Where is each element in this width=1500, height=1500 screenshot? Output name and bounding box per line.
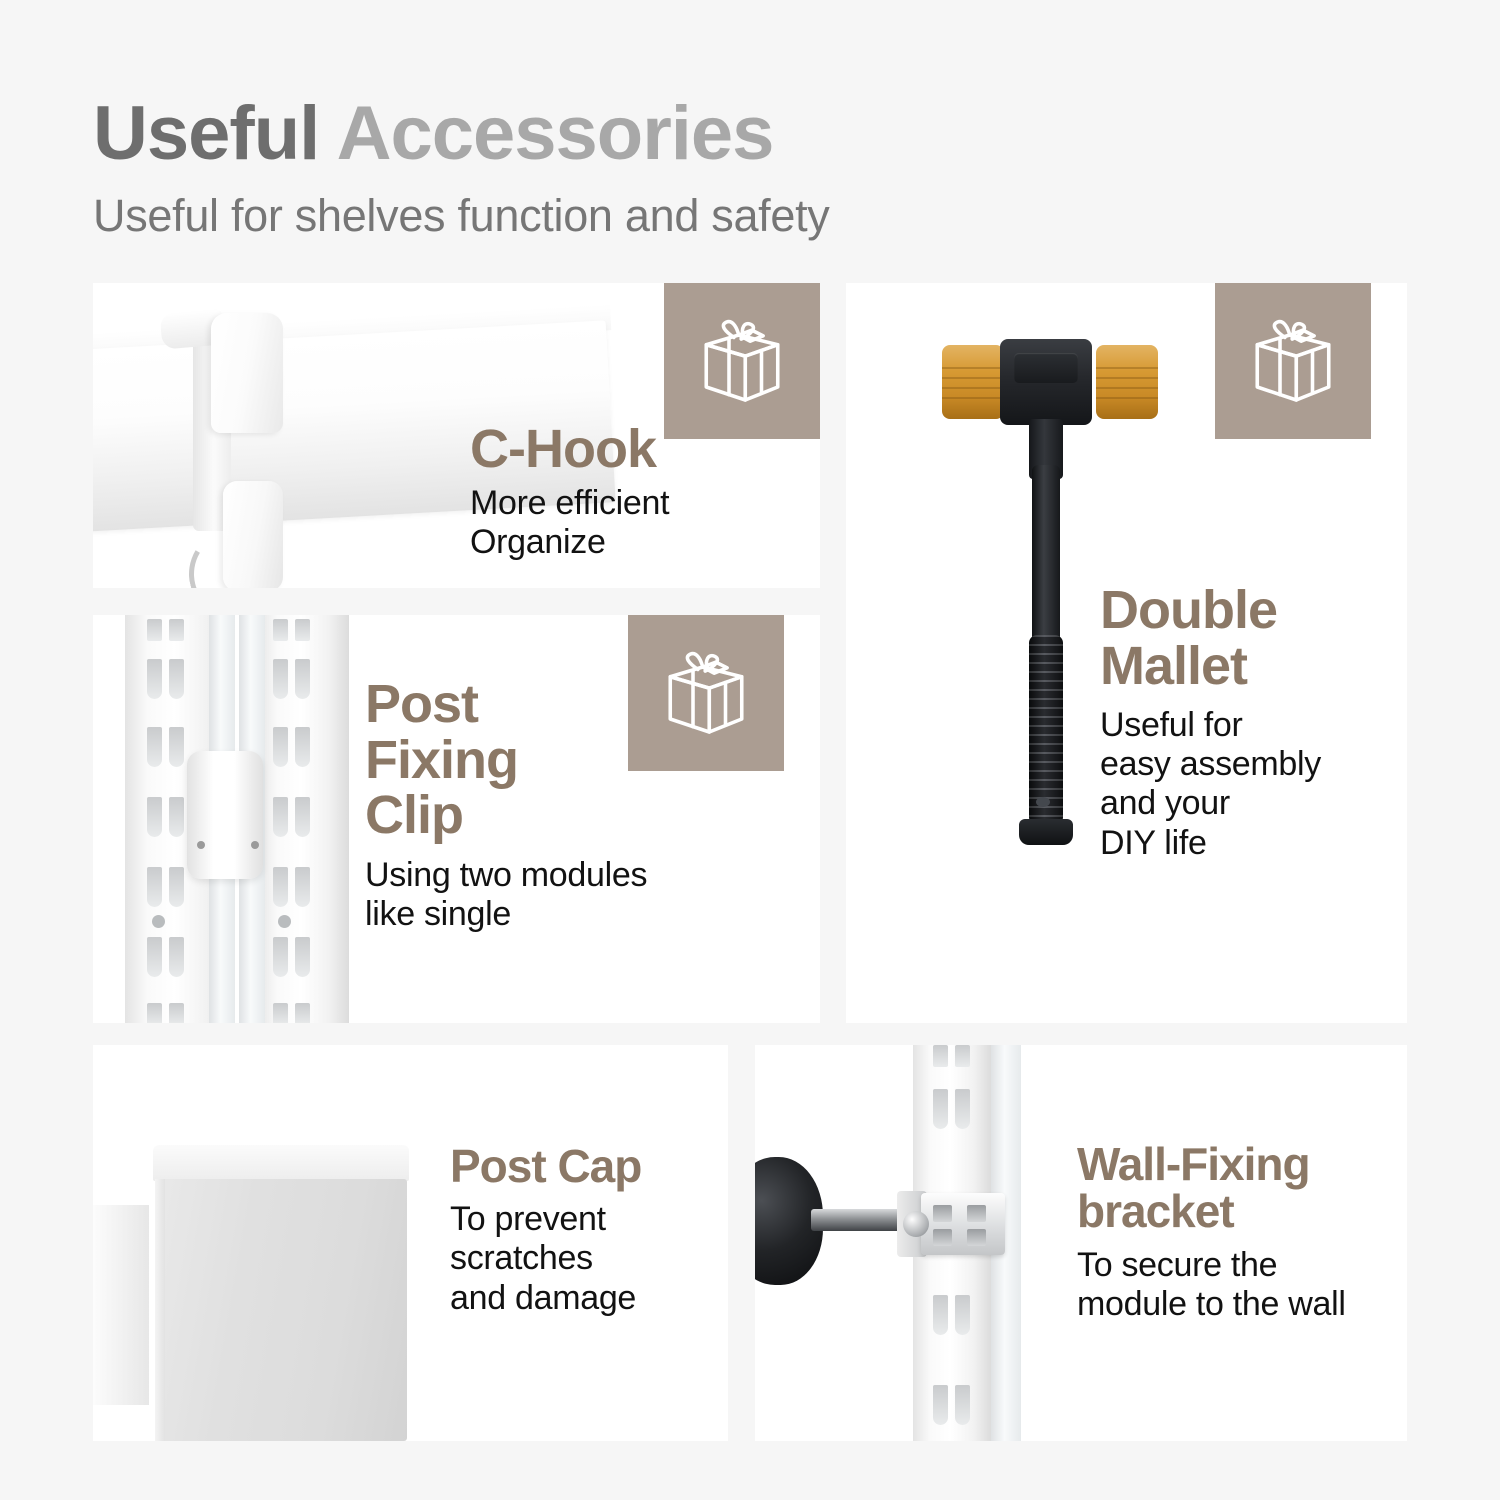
title-line: Post: [365, 677, 765, 733]
wall-fixing-bracket-title: Wall-Fixing bracket: [1077, 1141, 1407, 1236]
card-double-mallet: Double Mallet Useful for easy assembly a…: [846, 283, 1407, 1023]
post-slot: [933, 1295, 948, 1335]
description-line: To prevent: [450, 1200, 720, 1239]
c-hook-upper-arm: [211, 313, 283, 433]
post-slot: [169, 619, 184, 641]
infographic-page: Useful Accessories Useful for shelves fu…: [0, 0, 1500, 1500]
mallet-face-rib: [1096, 387, 1158, 389]
post-slot: [933, 1089, 948, 1129]
description-line: module to the wall: [1077, 1285, 1407, 1324]
post-hole: [278, 915, 291, 928]
post-cap-title: Post Cap: [450, 1143, 720, 1190]
post-slot: [273, 727, 288, 767]
title-line: Fixing: [365, 733, 765, 789]
post-slot: [273, 867, 288, 907]
clip-screw-dot: [197, 841, 205, 849]
post-slot: [295, 619, 310, 641]
post-fixing-clip-photo: [125, 615, 349, 1023]
accessory-card-grid: C-Hook More efficient Organize: [93, 283, 1407, 1441]
bracket-hole: [933, 1205, 952, 1222]
post-slot: [147, 867, 162, 907]
post-slot: [147, 727, 162, 767]
double-mallet-description: Useful for easy assembly and your DIY li…: [1100, 706, 1400, 862]
bracket-hole: [967, 1205, 986, 1222]
description-line: scratches: [450, 1239, 720, 1278]
post-slot: [169, 727, 184, 767]
post-slot: [273, 1003, 288, 1023]
description-line: Useful for: [1100, 706, 1400, 745]
mallet-butt-cap: [1019, 819, 1073, 845]
description-line: To secure the: [1077, 1246, 1407, 1285]
post-slot: [273, 659, 288, 699]
mallet-face-rib: [1096, 367, 1158, 369]
post-slot: [147, 1003, 162, 1023]
mallet-face-rib: [942, 387, 1004, 389]
post-slot: [955, 1385, 970, 1425]
post-cap-description: To prevent scratches and damage: [450, 1200, 720, 1317]
post-cap-body: [155, 1179, 407, 1441]
title-line: Wall-Fixing: [1077, 1141, 1407, 1188]
post-slot: [147, 659, 162, 699]
clip-screw-dot: [251, 841, 259, 849]
page-header: Useful Accessories Useful for shelves fu…: [93, 96, 1413, 242]
post-slot: [295, 727, 310, 767]
post-slot: [955, 1295, 970, 1335]
post-slot: [169, 1003, 184, 1023]
post-slot: [295, 867, 310, 907]
page-title-part1: Useful: [93, 91, 319, 176]
mallet-face-rib: [1096, 397, 1158, 399]
post-cap-top: [153, 1145, 409, 1181]
post-slot: [169, 867, 184, 907]
post-slot: [295, 937, 310, 977]
post-fixing-clip-text-block: Post Fixing Clip Using two modules like …: [365, 677, 765, 934]
post-slot: [295, 1003, 310, 1023]
card-post-cap: Post Cap To prevent scratches and damage: [93, 1045, 728, 1441]
post-slot: [273, 619, 288, 641]
mallet-face-left: [942, 345, 1004, 419]
c-hook-text-block: C-Hook More efficient Organize: [470, 422, 810, 562]
post-fixing-clip: [187, 751, 263, 879]
mallet-face-rib: [942, 397, 1004, 399]
description-line: like single: [365, 895, 765, 934]
double-mallet-text-block: Double Mallet Useful for easy assembly a…: [1100, 583, 1400, 863]
mallet-face-right: [1096, 345, 1158, 419]
post-slot: [955, 1089, 970, 1129]
description-line: easy assembly: [1100, 745, 1400, 784]
mallet-butt-dot: [1036, 797, 1050, 807]
description-line: DIY life: [1100, 824, 1400, 863]
post-cap-text-block: Post Cap To prevent scratches and damage: [450, 1143, 720, 1318]
post-slot: [147, 619, 162, 641]
adjacent-post-side: [93, 1205, 149, 1405]
screw-head: [903, 1211, 929, 1237]
post-slot: [169, 797, 184, 837]
card-c-hook: C-Hook More efficient Organize: [93, 283, 820, 588]
post-slot: [933, 1045, 948, 1067]
card-post-fixing-clip: Post Fixing Clip Using two modules like …: [93, 615, 820, 1023]
mallet-face-rib: [942, 377, 1004, 379]
title-line: Mallet: [1100, 639, 1400, 695]
double-mallet-title: Double Mallet: [1100, 583, 1400, 694]
description-line: and damage: [450, 1279, 720, 1318]
c-hook-description: More efficient Organize: [470, 484, 810, 562]
post-fixing-clip-description: Using two modules like single: [365, 856, 765, 934]
mallet-face-rib: [942, 367, 1004, 369]
bracket-hole: [933, 1229, 952, 1246]
title-line: Double: [1100, 583, 1400, 639]
bracket-hole: [967, 1229, 986, 1246]
post-fixing-clip-title: Post Fixing Clip: [365, 677, 765, 844]
page-title: Useful Accessories: [93, 96, 1413, 172]
post-slot: [147, 937, 162, 977]
gift-box-icon: [1241, 309, 1345, 413]
description-line: Using two modules: [365, 856, 765, 895]
post-slot: [295, 659, 310, 699]
wall-fixing-bracket-text-block: Wall-Fixing bracket To secure the module…: [1077, 1141, 1407, 1324]
title-line: Clip: [365, 788, 765, 844]
description-line: and your: [1100, 784, 1400, 823]
mallet-head: [1000, 339, 1092, 425]
c-hook-title: C-Hook: [470, 422, 810, 478]
wall-fixing-bracket-description: To secure the module to the wall: [1077, 1246, 1407, 1324]
post-slot: [933, 1385, 948, 1425]
page-subtitle: Useful for shelves function and safety: [93, 190, 1413, 242]
wall-fixing-bracket-photo: [755, 1045, 1055, 1441]
post-slot: [169, 937, 184, 977]
gift-box-icon: [690, 309, 794, 413]
post-slot: [273, 937, 288, 977]
post-hole: [152, 915, 165, 928]
gift-badge-c-hook: [664, 283, 820, 439]
post-slot: [169, 659, 184, 699]
post-slot: [295, 797, 310, 837]
post-cap-photo: [93, 1045, 433, 1441]
post-slot: [147, 797, 162, 837]
gift-badge-double-mallet: [1215, 283, 1371, 439]
mallet-face-rib: [1096, 377, 1158, 379]
title-line: bracket: [1077, 1188, 1407, 1235]
post-slot: [273, 797, 288, 837]
post-cap-edge: [155, 1179, 165, 1441]
post-slot: [955, 1045, 970, 1067]
mallet-head-panel: [1014, 353, 1078, 383]
card-wall-fixing-bracket: Wall-Fixing bracket To secure the module…: [755, 1045, 1407, 1441]
page-title-part2: Accessories: [337, 91, 774, 176]
